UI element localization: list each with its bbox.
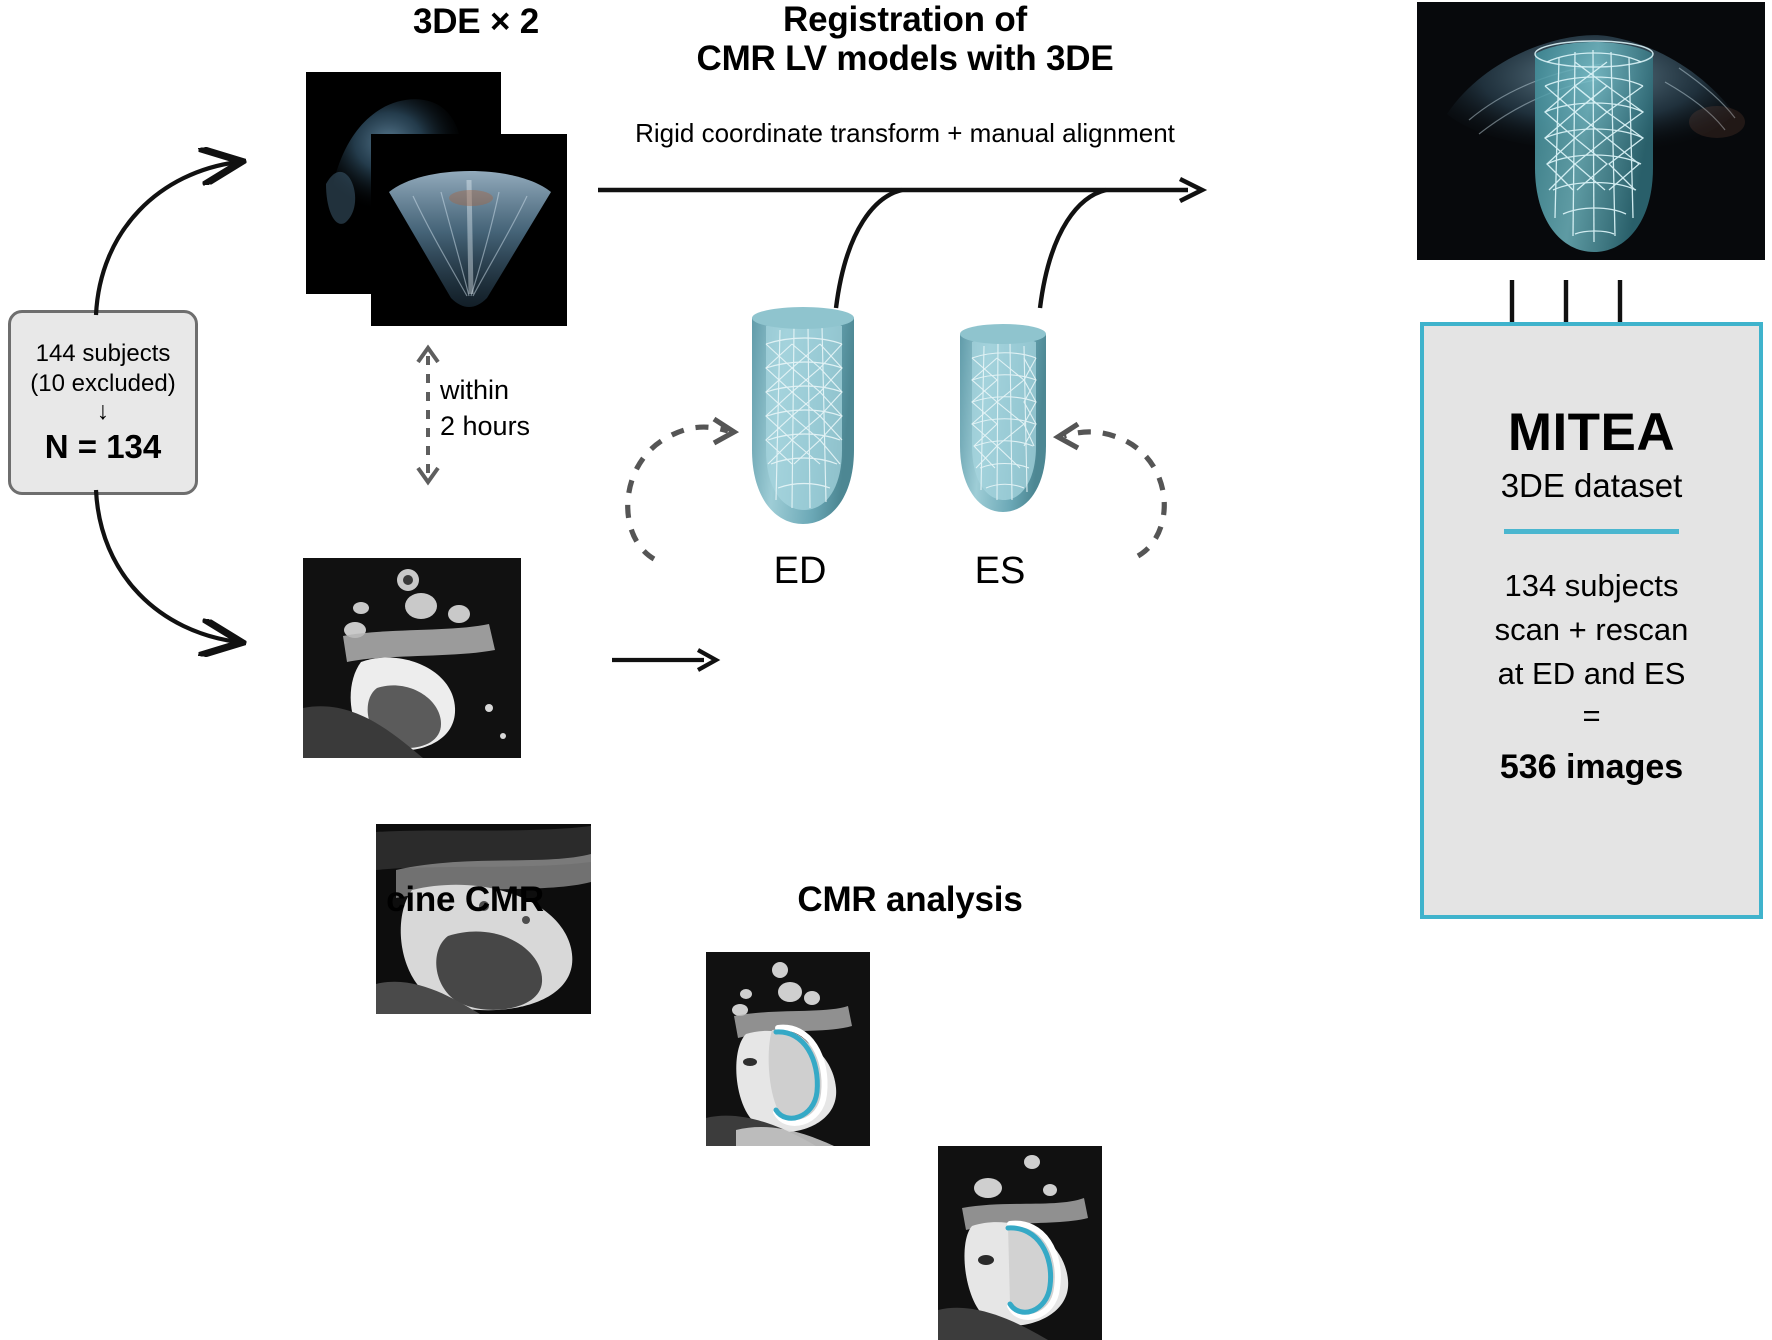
cmr-analysis-es-content	[938, 1146, 1102, 1340]
arrow-to-echo	[0, 110, 300, 330]
registration-title-line1: Registration of	[596, 0, 1214, 39]
echo-volume-front	[371, 134, 567, 326]
cmr-analysis-image-ed	[706, 952, 870, 1146]
subject-line-2: (10 excluded)	[30, 369, 175, 398]
registration-title-line2: CMR LV models with 3DE	[596, 39, 1214, 78]
subject-final-count: N = 134	[45, 428, 162, 466]
subject-line-1: 144 subjects	[36, 339, 171, 368]
down-arrow-icon: ↓	[97, 399, 110, 424]
arrow-cmr-to-analysis	[612, 640, 722, 680]
cmr-analysis-image-es	[938, 1146, 1102, 1340]
phase-label-es: ES	[940, 550, 1060, 593]
cine-cmr-image-back	[303, 558, 521, 758]
cmr-analysis-ed-content	[706, 952, 870, 1146]
mitea-body-line-2: scan + rescan	[1424, 608, 1759, 652]
dashed-arc-ed	[588, 385, 768, 565]
mitea-subtitle: 3DE dataset	[1424, 467, 1759, 505]
mitea-description: 134 subjects scan + rescan at ED and ES	[1424, 564, 1759, 696]
mitea-total-images: 536 images	[1424, 748, 1759, 787]
registration-arrow	[596, 176, 1216, 326]
arrow-to-cmr	[0, 480, 300, 690]
caption-cine-cmr: cine CMR	[300, 880, 630, 919]
mitea-equals-sign: =	[1424, 696, 1759, 736]
echo-title: 3DE × 2	[316, 2, 636, 41]
subject-count-box: 144 subjects (10 excluded) ↓ N = 134	[8, 310, 198, 495]
mitea-title: MITEA	[1424, 402, 1759, 463]
registration-title: Registration of CMR LV models with 3DE	[596, 0, 1214, 78]
cmr-back-content	[303, 558, 521, 758]
mitea-divider	[1504, 529, 1679, 534]
mitea-body-line-1: 134 subjects	[1424, 564, 1759, 608]
dashed-arc-es	[1026, 392, 1206, 562]
registered-model-render	[1417, 2, 1765, 260]
caption-cmr-analysis: CMR analysis	[700, 880, 1120, 919]
mitea-panel: MITEA 3DE dataset 134 subjects scan + re…	[1420, 322, 1763, 919]
registration-subtitle: Rigid coordinate transform + manual alig…	[596, 118, 1214, 149]
phase-label-ed: ED	[740, 550, 860, 593]
echo-image-front	[371, 134, 567, 326]
registered-model-content	[1417, 2, 1765, 260]
mitea-body-line-3: at ED and ES	[1424, 652, 1759, 696]
